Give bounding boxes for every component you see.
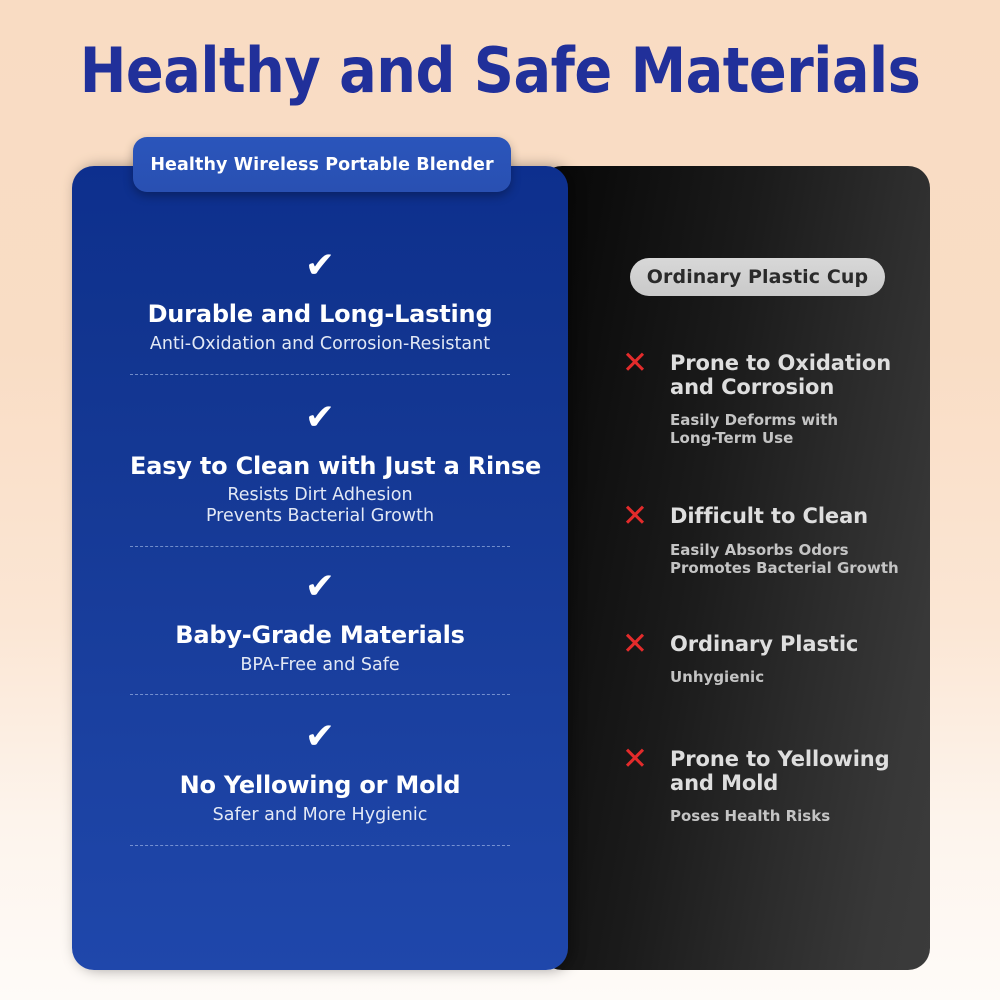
drawback-list: ✕ Prone to Oxidation and Corrosion Easil… (540, 166, 930, 970)
drawback-subtitle: Poses Health Risks (670, 807, 914, 825)
check-icon: ✔ (130, 400, 510, 436)
drawback-title: Prone to Oxidation (670, 352, 914, 376)
drawback-subtitle: Unhygienic (670, 668, 914, 686)
feature-title: Baby-Grade Materials (130, 622, 510, 649)
feature-item: ✔ Baby-Grade Materials BPA-Free and Safe (130, 569, 510, 696)
drawback-subtitle: Easily Absorbs Odors (670, 541, 914, 559)
drawback-item: ✕ Prone to Yellowing and Mold Poses Heal… (618, 748, 914, 825)
x-icon: ✕ (618, 744, 652, 775)
page-title: Healthy and Safe Materials (0, 34, 1000, 107)
feature-item: ✔ No Yellowing or Mold Safer and More Hy… (130, 719, 510, 846)
check-icon: ✔ (130, 248, 510, 284)
drawback-title-second-line: and Mold (670, 772, 914, 796)
feature-subtitle: Resists Dirt Adhesion (130, 485, 510, 506)
check-icon: ✔ (130, 719, 510, 755)
feature-divider (130, 546, 510, 547)
feature-title: Durable and Long-Lasting (130, 301, 510, 328)
drawback-title-second-line: and Corrosion (670, 376, 914, 400)
x-icon: ✕ (618, 348, 652, 379)
feature-subtitle: Anti-Oxidation and Corrosion-Resistant (130, 334, 510, 355)
x-icon: ✕ (618, 501, 652, 532)
feature-subtitle: BPA-Free and Safe (130, 655, 510, 676)
drawback-item: ✕ Ordinary Plastic Unhygienic (618, 633, 914, 687)
drawback-item: ✕ Difficult to Clean Easily Absorbs Odor… (618, 505, 914, 577)
drawback-subtitle-second-line: Promotes Bacterial Growth (670, 559, 914, 577)
feature-subtitle-second-line: Prevents Bacterial Growth (130, 506, 510, 527)
feature-title: Easy to Clean with Just a Rinse (130, 453, 510, 480)
drawback-title: Prone to Yellowing (670, 748, 914, 772)
drawback-title: Ordinary Plastic (670, 633, 914, 657)
feature-subtitle: Safer and More Hygienic (130, 805, 510, 826)
x-icon: ✕ (618, 629, 652, 660)
drawback-title: Difficult to Clean (670, 505, 914, 529)
feature-divider (130, 374, 510, 375)
feature-item: ✔ Durable and Long-Lasting Anti-Oxidatio… (130, 248, 510, 375)
drawback-subtitle: Easily Deforms with (670, 411, 914, 429)
feature-title: No Yellowing or Mold (130, 772, 510, 799)
drawback-subtitle-second-line: Long-Term Use (670, 429, 914, 447)
drawback-item: ✕ Prone to Oxidation and Corrosion Easil… (618, 352, 914, 447)
feature-divider (130, 845, 510, 846)
feature-divider (130, 694, 510, 695)
feature-item: ✔ Easy to Clean with Just a Rinse Resist… (130, 400, 510, 547)
feature-list: ✔ Durable and Long-Lasting Anti-Oxidatio… (72, 166, 568, 970)
check-icon: ✔ (130, 569, 510, 605)
